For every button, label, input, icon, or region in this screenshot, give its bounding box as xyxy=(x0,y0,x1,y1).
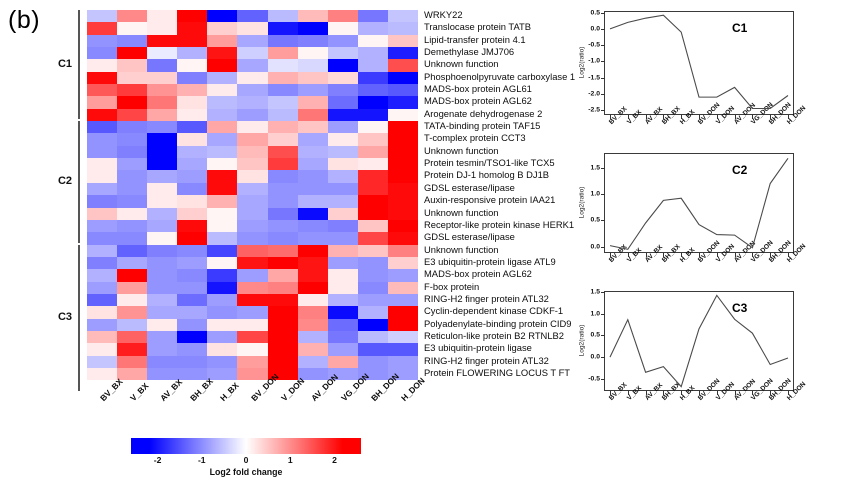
series-line-c3 xyxy=(0,0,856,485)
line-chart-c3: Log2(ratio)1.51.00.50.0-0.5BV_BXV_BXAV_B… xyxy=(0,0,856,485)
figure-panel-b: (b) C1C2C3 WRKY22Translocase protein TAT… xyxy=(0,0,856,485)
